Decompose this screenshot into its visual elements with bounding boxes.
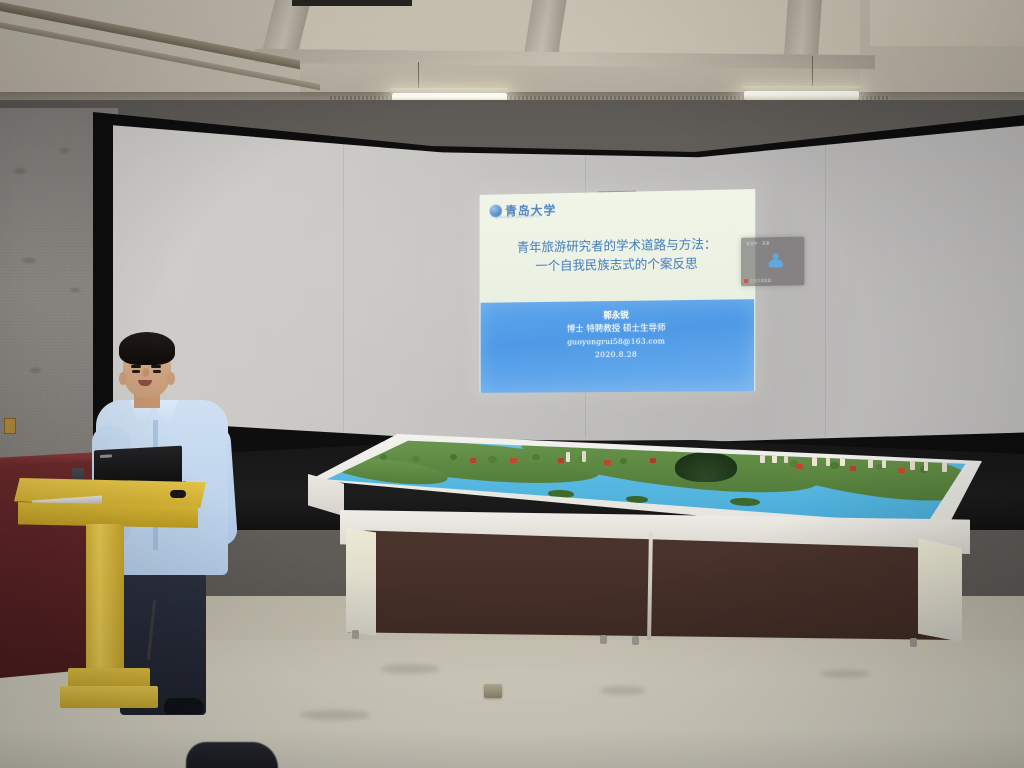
ceiling-panel — [870, 0, 1024, 46]
participant-avatar-icon — [767, 253, 782, 268]
slide-title-line-2: 一个自我民族志式的个案反思 — [480, 253, 756, 277]
slide-header-area: 青岛大学 QINGDAO UNIVERSITY 青年旅游研究者的学术道路与方法：… — [480, 189, 756, 304]
presenter-hair — [119, 332, 175, 365]
university-logo-english: QINGDAO UNIVERSITY — [495, 214, 541, 219]
ceiling-panel — [300, 0, 550, 54]
recording-indicator-icon — [744, 279, 748, 283]
model-hill — [675, 452, 737, 482]
foreground-dark-object — [186, 742, 278, 768]
video-call-panel-label: 会议中 · 连麦 — [746, 241, 770, 246]
floor-outlet-box — [484, 684, 502, 698]
architectural-scale-model-table[interactable] — [300, 432, 990, 662]
projected-slide: 青岛大学 QINGDAO UNIVERSITY 青年旅游研究者的学术道路与方法：… — [480, 189, 756, 393]
lectern-base-lower — [60, 686, 158, 708]
caster-wheel — [600, 635, 607, 644]
mouse[interactable] — [170, 490, 186, 498]
wall-socket — [4, 418, 16, 434]
model-table-base-cabinet — [348, 530, 958, 640]
lecture-hall-photo: 青岛大学 QINGDAO UNIVERSITY 青年旅游研究者的学术道路与方法：… — [0, 0, 1024, 768]
video-call-panel[interactable]: 会议中 · 连麦 正在共享屏幕 — [741, 237, 804, 287]
video-call-footer-label: 正在共享屏幕 — [750, 278, 771, 283]
ceiling-beam — [784, 0, 822, 58]
slide-footer-area: 郭永锐 博士 特聘教授 硕士生导师 guoyongrui58@163.com 2… — [481, 299, 755, 393]
slide-title: 青年旅游研究者的学术道路与方法： 一个自我民族志式的个案反思 — [480, 233, 756, 276]
caster-wheel — [632, 636, 639, 645]
lectern[interactable] — [10, 478, 210, 738]
presentation-date: 2020.8.28 — [481, 348, 755, 363]
model-table-leg-right — [918, 538, 962, 642]
laptop-brand-logo — [100, 454, 112, 458]
ceiling-recess — [292, 0, 412, 6]
caster-wheel — [352, 630, 359, 639]
lectern-column — [86, 524, 124, 676]
caster-wheel — [910, 638, 917, 647]
presenter-nose — [143, 368, 149, 377]
video-call-footer: 正在共享屏幕 — [744, 278, 771, 283]
model-table-leg-left — [346, 528, 376, 636]
